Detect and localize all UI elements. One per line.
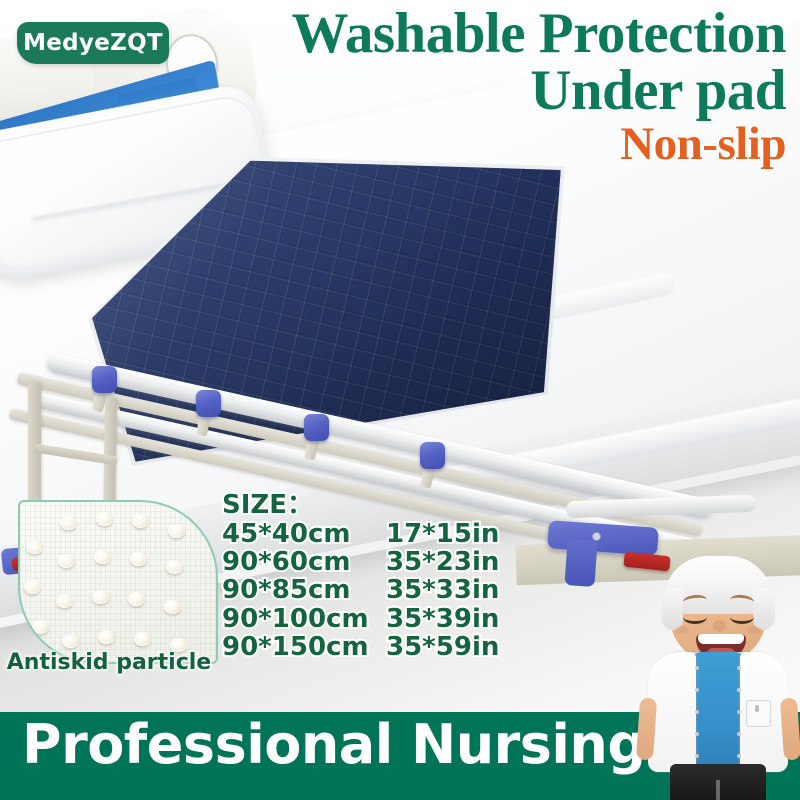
man-eye-left <box>683 610 707 624</box>
man-shirt-button <box>695 688 699 692</box>
man-hair-side-left <box>661 588 683 630</box>
man-shirt-button <box>737 710 741 714</box>
man-teeth <box>698 634 744 644</box>
size-row: 90*85cm 35*33in <box>222 576 499 604</box>
antiskid-dot <box>98 630 115 644</box>
man-nose <box>713 620 726 632</box>
size-cm: 90*100cm <box>222 605 370 633</box>
size-cm: 90*85cm <box>222 576 370 604</box>
antiskid-dot <box>168 524 185 538</box>
antiskid-dot <box>24 580 41 594</box>
rail-cap-2 <box>196 390 221 417</box>
antiskid-dot <box>32 620 49 634</box>
headline-highlight: Non-slip <box>186 119 786 170</box>
antiskid-particle-label: Antiskid particle <box>4 650 214 675</box>
size-in: 35*59in <box>386 633 499 661</box>
antiskid-dot <box>134 632 151 646</box>
product-poster: MedyeZQT Washable Protection Under pad N… <box>0 0 800 800</box>
rail-cap-1 <box>92 366 117 393</box>
man-hair-side-right <box>753 588 775 630</box>
man-shirt-button <box>737 754 741 758</box>
antiskid-dot <box>128 592 145 606</box>
man-shirt-button <box>737 732 741 736</box>
man-shirt-button <box>737 666 741 670</box>
brand-logo: MedyeZQT <box>17 22 169 64</box>
man-shirt-pocket-pen <box>755 705 759 712</box>
size-list: SIZE： 45*40cm 17*15in 90*60cm 35*23in 90… <box>222 492 499 661</box>
antiskid-dot <box>56 594 73 608</box>
man-shirt-button <box>695 732 699 736</box>
size-row: 90*100cm 35*39in <box>222 605 499 633</box>
size-cm: 90*150cm <box>222 633 370 661</box>
rail-cap-3 <box>304 414 329 441</box>
size-cm: 90*60cm <box>222 548 370 576</box>
elderly-man-illustration <box>636 548 800 800</box>
size-in: 35*33in <box>386 576 499 604</box>
antiskid-dot <box>58 554 75 568</box>
size-in: 35*23in <box>386 548 499 576</box>
man-arm-right <box>780 697 800 760</box>
man-shirt-button <box>695 754 699 758</box>
antiskid-dot <box>132 514 149 528</box>
antiskid-dot <box>92 590 109 604</box>
man-shirt-button <box>695 666 699 670</box>
man-cheek-right <box>747 626 761 634</box>
antiskid-dot <box>62 634 79 648</box>
fabric-weave-texture <box>20 502 216 662</box>
rail-cap-4 <box>420 442 445 469</box>
antiskid-dot <box>96 512 113 526</box>
size-in: 17*15in <box>386 520 499 548</box>
size-row: 90*150cm 35*59in <box>222 633 499 661</box>
headline-line-1: Washable Protection <box>186 6 786 62</box>
antiskid-dot <box>60 516 77 530</box>
antiskid-dot <box>130 552 147 566</box>
antiskid-particle-inset <box>18 500 218 664</box>
antiskid-dot <box>164 600 181 614</box>
man-pants-gap <box>716 780 720 800</box>
size-in: 35*39in <box>386 605 499 633</box>
headline-block: Washable Protection Under pad Non-slip <box>186 6 786 170</box>
size-cm: 45*40cm <box>222 520 370 548</box>
brand-logo-text: MedyeZQT <box>23 32 163 55</box>
footer-banner-text: Professional Nursing <box>22 718 646 772</box>
man-shirt-pocket <box>746 700 771 727</box>
size-row: 90*60cm 35*23in <box>222 548 499 576</box>
antiskid-dot <box>26 540 43 554</box>
man-cheek-left <box>675 626 689 634</box>
size-list-title: SIZE： <box>222 492 499 520</box>
headline-line-2: Under pad <box>186 62 786 119</box>
rail-release-knob <box>592 532 601 541</box>
size-row: 45*40cm 17*15in <box>222 520 499 548</box>
man-shirt-button <box>695 710 699 714</box>
man-shirt-button <box>737 688 741 692</box>
antiskid-dot <box>166 560 183 574</box>
antiskid-dot <box>94 550 111 564</box>
man-eye-right <box>730 610 754 624</box>
rail-release-handle-stem <box>564 539 597 587</box>
